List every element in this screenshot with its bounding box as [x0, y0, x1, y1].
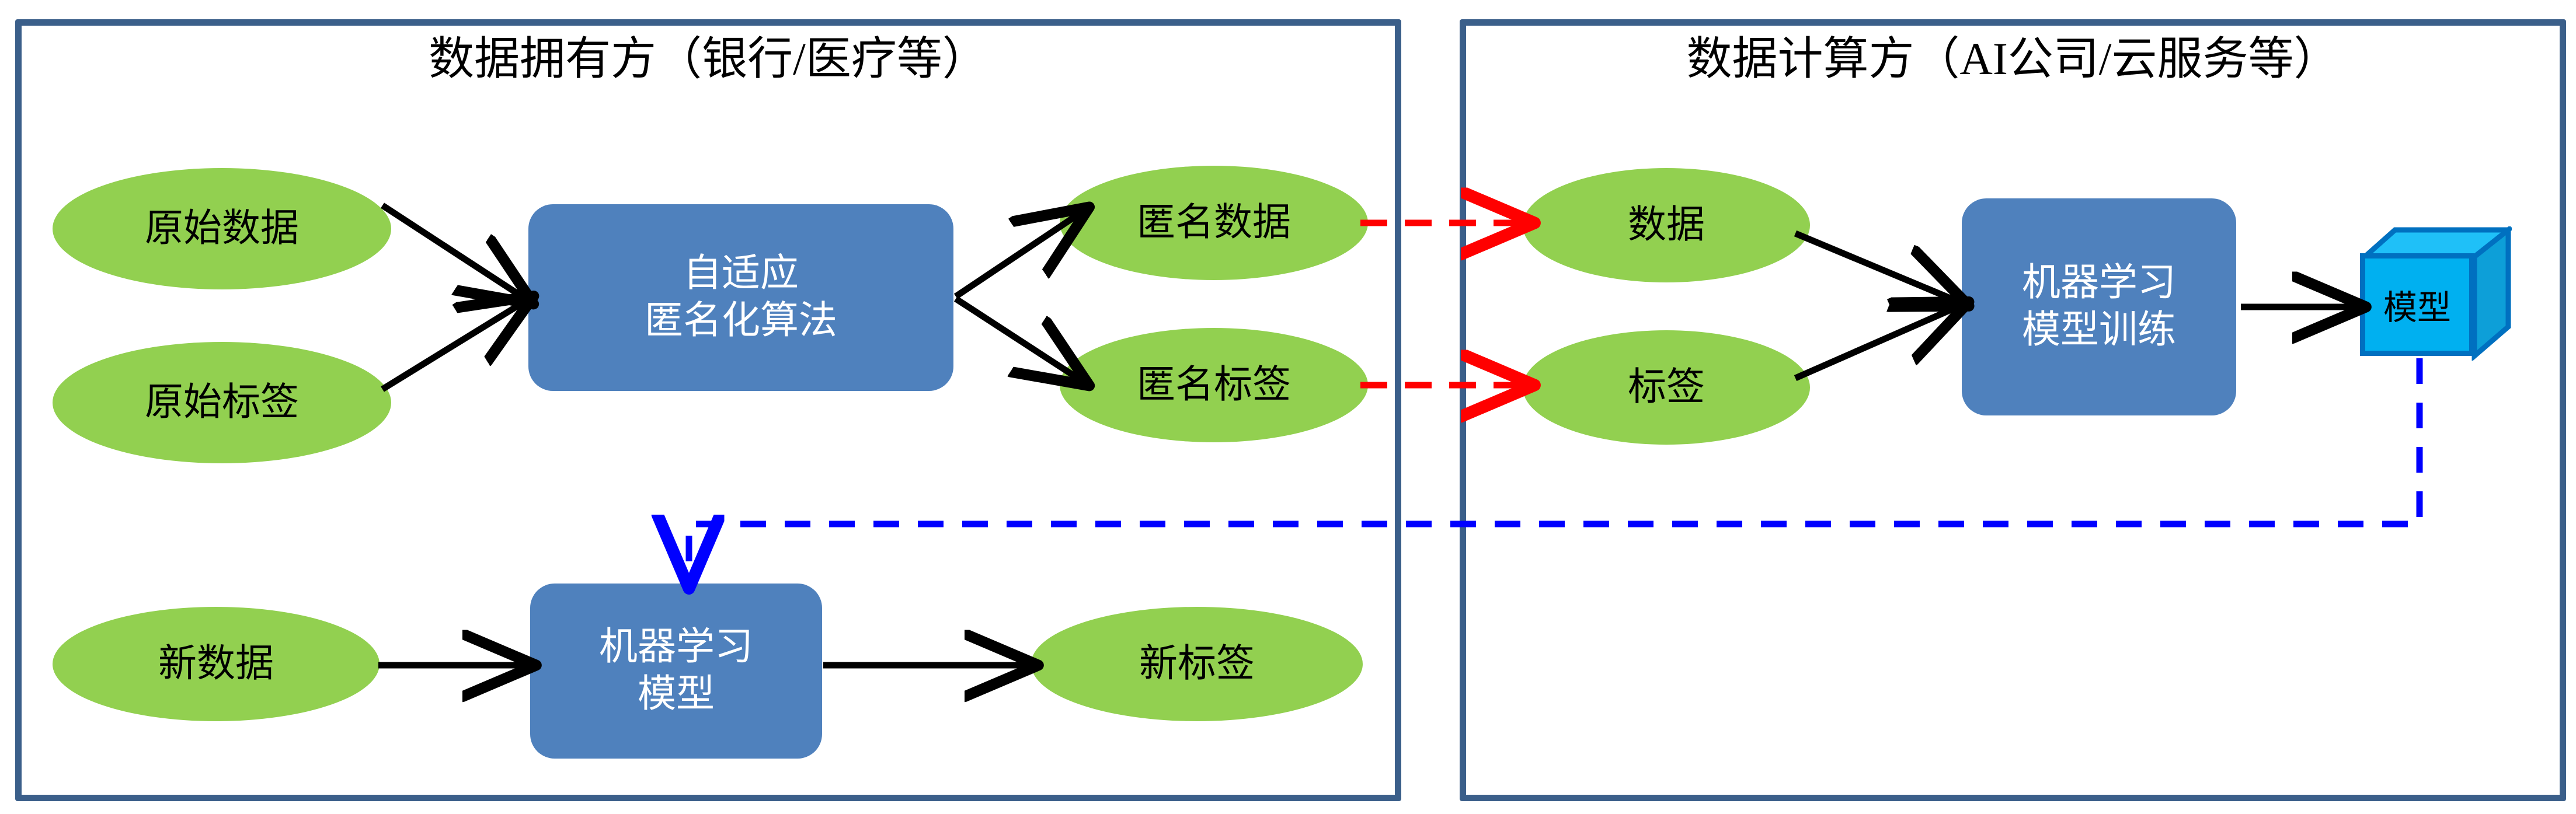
panel-title-data-computer: 数据计算方（AI公司/云服务等）	[1460, 36, 2566, 82]
anon-algorithm-line2: 匿名化算法	[645, 298, 837, 345]
node-anon-label[interactable]: 匿名标签	[1060, 328, 1368, 442]
node-ml-model[interactable]: 机器学习 模型	[530, 584, 822, 759]
diagram-canvas: 数据拥有方（银行/医疗等） 数据计算方（AI公司/云服务等） 原始数据 原始标签…	[0, 0, 2576, 814]
node-remote-label[interactable]: 标签	[1523, 330, 1810, 445]
anon-algorithm-line1: 自适应	[645, 250, 837, 298]
node-anon-algorithm[interactable]: 自适应 匿名化算法	[528, 204, 953, 391]
node-model-cube[interactable]: 模型	[2360, 226, 2512, 361]
panel-title-data-owner: 数据拥有方（银行/医疗等）	[15, 36, 1401, 82]
ml-training-line1: 机器学习	[2022, 260, 2176, 307]
ml-model-line2: 模型	[599, 671, 753, 718]
node-new-label[interactable]: 新标签	[1031, 607, 1363, 721]
node-raw-data[interactable]: 原始数据	[53, 168, 391, 289]
node-anon-data[interactable]: 匿名数据	[1060, 166, 1368, 280]
node-remote-data[interactable]: 数据	[1523, 168, 1810, 282]
cube-front-face-label: 模型	[2360, 253, 2474, 356]
ml-model-line1: 机器学习	[599, 624, 753, 671]
ml-training-line2: 模型训练	[2022, 307, 2176, 354]
node-ml-training[interactable]: 机器学习 模型训练	[1962, 198, 2236, 415]
node-new-data[interactable]: 新数据	[53, 607, 380, 721]
node-raw-label[interactable]: 原始标签	[53, 342, 391, 463]
